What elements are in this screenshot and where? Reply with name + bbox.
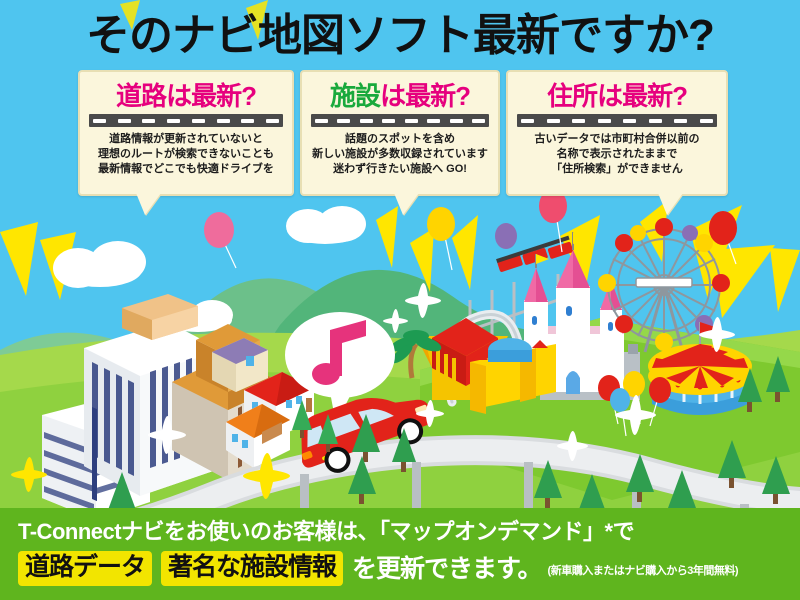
- road-divider-icon: [311, 114, 489, 127]
- card-address-title-main: 住所: [547, 81, 597, 111]
- card-facility-title-rest: は最新?: [380, 81, 470, 111]
- card-road-line1: 道路情報が更新されていないと: [86, 132, 286, 147]
- card-facility-line2: 新しい施設が多数収録されています: [308, 147, 492, 162]
- card-address-title-rest: は最新?: [597, 81, 687, 111]
- speech-bubble-tail: [394, 193, 419, 215]
- speech-bubble-tail: [136, 193, 161, 215]
- speech-bubble-tail: [658, 193, 683, 215]
- promo-banner-tail: を更新できます。: [352, 552, 542, 586]
- road-divider-icon: [517, 114, 717, 127]
- card-facility: 施設は最新? 話題のスポットを含め 新しい施設が多数収録されています 迷わず行き…: [300, 70, 500, 196]
- chip-facility-info: 著名な施設情報: [161, 551, 343, 586]
- card-address-title: 住所は最新?: [514, 80, 720, 112]
- card-road-title: 道路は最新?: [86, 80, 286, 112]
- card-road: 道路は最新? 道路情報が更新されていないと 理想のルートが検索できないことも 最…: [78, 70, 294, 196]
- card-address-line3: 「住所検索」ができません: [514, 162, 720, 177]
- card-address-line2: 名称で表示されたままで: [514, 147, 720, 162]
- card-road-title-rest: は最新?: [166, 81, 256, 111]
- card-facility-line3: 迷わず行きたい施設へ GO!: [308, 162, 492, 177]
- page-title: そのナビ地図ソフト最新ですか?: [0, 8, 800, 64]
- promo-banner-line1: T-Connectナビをお使いのお客様は、「マップオンデマンド」*で: [18, 518, 786, 546]
- card-facility-title: 施設は最新?: [308, 80, 492, 112]
- card-facility-line1: 話題のスポットを含め: [308, 132, 492, 147]
- feature-cards: 道路は最新? 道路情報が更新されていないと 理想のルートが検索できないことも 最…: [0, 70, 800, 230]
- road-divider-icon: [89, 114, 283, 127]
- promo-banner: T-Connectナビをお使いのお客様は、「マップオンデマンド」*で 道路データ…: [0, 508, 800, 600]
- card-road-line2: 理想のルートが検索できないことも: [86, 147, 286, 162]
- card-facility-title-main: 施設: [330, 81, 380, 111]
- card-road-line3: 最新情報でどこでも快適ドライブを: [86, 162, 286, 177]
- card-road-title-main: 道路: [116, 81, 166, 111]
- chip-road-data: 道路データ: [18, 551, 152, 586]
- card-address: 住所は最新? 古いデータでは市町村合併以前の 名称で表示されたままで 「住所検索…: [506, 70, 728, 196]
- advertisement-canvas: そのナビ地図ソフト最新ですか? 道路は最新? 道路情報が更新されていないと 理想…: [0, 0, 800, 600]
- card-address-line1: 古いデータでは市町村合併以前の: [514, 132, 720, 147]
- promo-banner-line2: 道路データ 著名な施設情報 を更新できます。 (新車購入またはナビ購入から3年間…: [18, 551, 786, 586]
- promo-banner-note: (新車購入またはナビ購入から3年間無料): [548, 556, 738, 586]
